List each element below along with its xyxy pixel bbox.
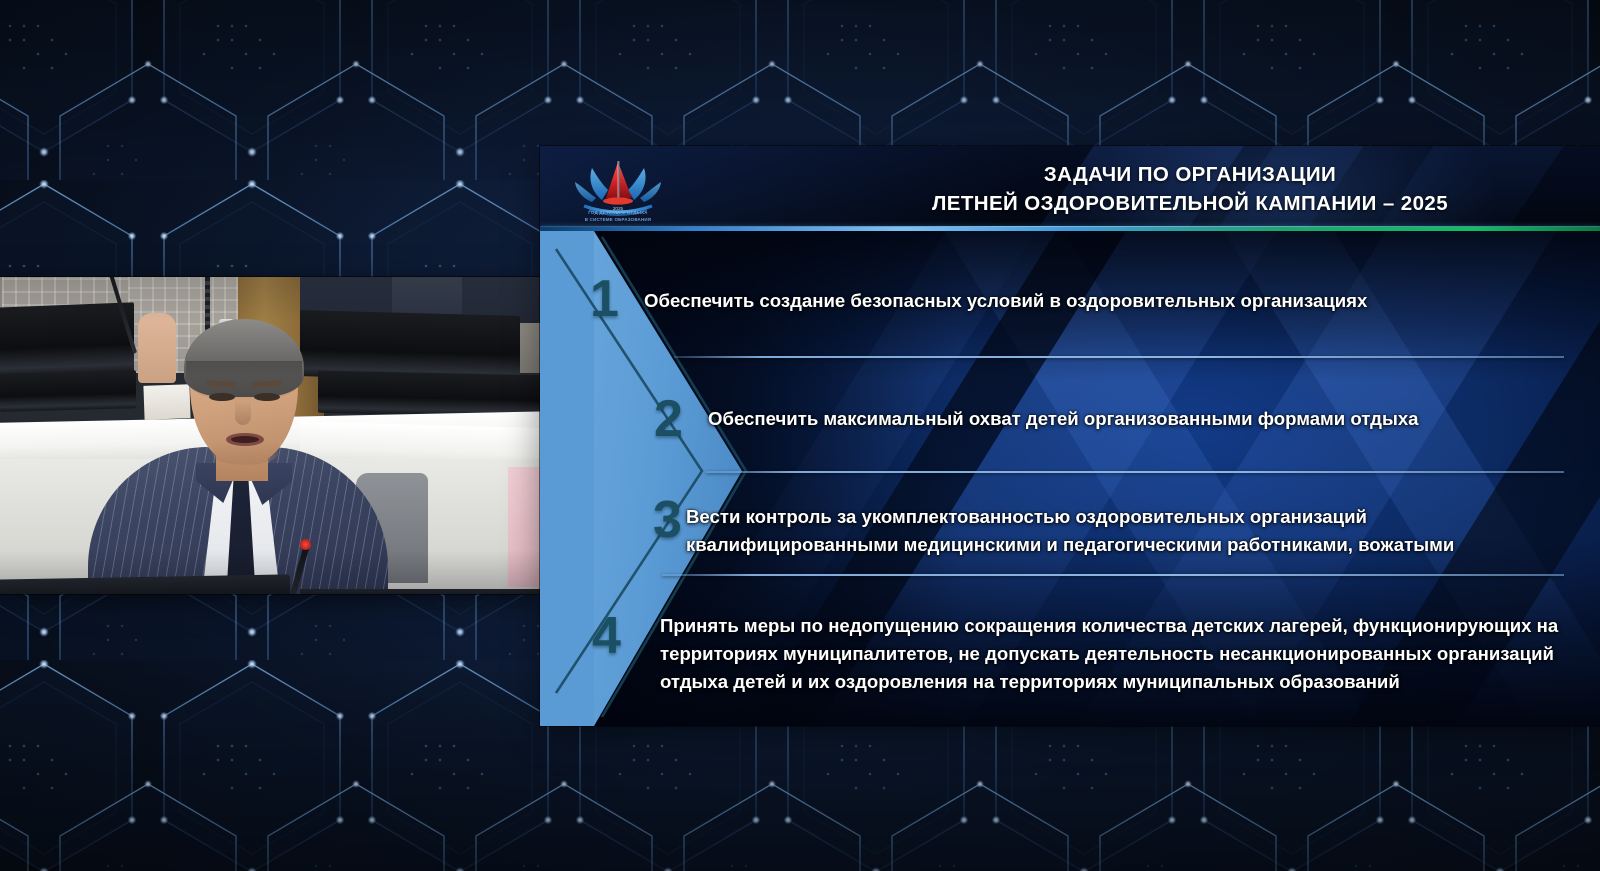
slide-body: 1 Обеспечить создание безопасных условий… (540, 231, 1600, 726)
hair-shadow (186, 361, 302, 401)
slide-title: ЗАДАЧИ ПО ОРГАНИЗАЦИИ ЛЕТНЕЙ ОЗДОРОВИТЕЛ… (810, 160, 1570, 218)
mouth-interior (231, 436, 259, 443)
eye-right (254, 393, 280, 401)
nose (235, 399, 251, 425)
task-text-3: Вести контроль за укомплектованностью оз… (686, 503, 1558, 559)
speaker-video-feed[interactable] (0, 277, 540, 594)
task-list: 1 Обеспечить создание безопасных условий… (540, 231, 1600, 726)
attendee-arm (138, 313, 176, 383)
back-monitor-left (0, 302, 134, 377)
task-number-1: 1 (590, 273, 619, 325)
task-number-2: 2 (654, 393, 683, 445)
slide-header: 2025 ГОД ДЕТСКОГО ОТДЫХА В СИСТЕМЕ ОБРАЗ… (540, 146, 1600, 227)
logo-caption: ГОД ДЕТСКОГО ОТДЫХА В СИСТЕМЕ ОБРАЗОВАНИ… (562, 210, 674, 223)
task-text-1: Обеспечить создание безопасных условий в… (644, 287, 1544, 315)
paper-sheet (143, 384, 190, 420)
presentation-slide[interactable]: 2025 ГОД ДЕТСКОГО ОТДЫХА В СИСТЕМЕ ОБРАЗ… (540, 146, 1600, 726)
foreground-laptop-right (300, 589, 540, 594)
broadcast-stage: 2025 ГОД ДЕТСКОГО ОТДЫХА В СИСТЕМЕ ОБРАЗ… (0, 0, 1600, 871)
task-text-4: Принять меры по недопущению сокращения к… (660, 612, 1560, 696)
eye-left (209, 393, 235, 401)
attendee-right-edge (508, 467, 540, 587)
task-number-4: 4 (592, 610, 621, 662)
desk-monitor-left (0, 370, 136, 412)
desk-monitor-right (318, 371, 540, 418)
task-text-2: Обеспечить максимальный охват детей орга… (708, 405, 1564, 433)
task-number-3: 3 (653, 494, 682, 546)
microphone-active-led (300, 539, 311, 550)
sailboat-emblem-icon: 2025 ГОД ДЕТСКОГО ОТДЫХА В СИСТЕМЕ ОБРАЗ… (562, 156, 674, 224)
